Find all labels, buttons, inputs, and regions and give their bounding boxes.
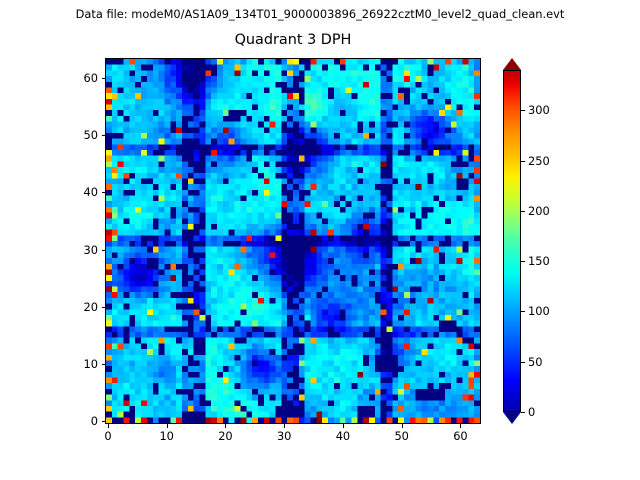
colorbar[interactable] xyxy=(503,58,521,424)
x-ticklabel-40: 40 xyxy=(323,429,363,443)
y-tick-30 xyxy=(102,250,106,251)
y-ticklabel-10: 10 xyxy=(58,357,98,371)
x-ticklabel-60: 60 xyxy=(440,429,480,443)
colorbar-tick-0 xyxy=(521,412,525,413)
colorbar-ticklabel-250: 250 xyxy=(528,154,550,168)
x-ticklabel-20: 20 xyxy=(205,429,245,443)
x-tick-0 xyxy=(108,424,109,428)
colorbar-gradient xyxy=(503,70,521,412)
x-ticklabel-50: 50 xyxy=(382,429,422,443)
y-tick-50 xyxy=(102,135,106,136)
colorbar-extend-max-arrow xyxy=(503,58,521,70)
y-tick-40 xyxy=(102,192,106,193)
y-ticklabel-0: 0 xyxy=(58,414,98,428)
x-tick-20 xyxy=(225,424,226,428)
colorbar-tick-200 xyxy=(521,211,525,212)
y-tick-20 xyxy=(102,307,106,308)
x-tick-60 xyxy=(460,424,461,428)
colorbar-extend-min-arrow xyxy=(503,412,521,424)
colorbar-ticklabel-50: 50 xyxy=(528,355,543,369)
heatmap-axes[interactable] xyxy=(105,58,481,424)
colorbar-ticklabel-0: 0 xyxy=(528,405,535,419)
y-ticklabel-30: 30 xyxy=(58,243,98,257)
x-ticklabel-0: 0 xyxy=(88,429,128,443)
colorbar-tick-50 xyxy=(521,362,525,363)
y-tick-10 xyxy=(102,364,106,365)
y-ticklabel-40: 40 xyxy=(58,185,98,199)
y-tick-60 xyxy=(102,78,106,79)
colorbar-tick-100 xyxy=(521,311,525,312)
figure-canvas: Data file: modeM0/AS1A09_134T01_90000038… xyxy=(0,0,640,480)
y-tick-0 xyxy=(102,421,106,422)
colorbar-tick-300 xyxy=(521,110,525,111)
y-ticklabel-50: 50 xyxy=(58,128,98,142)
colorbar-ticklabel-200: 200 xyxy=(528,204,550,218)
colorbar-tick-250 xyxy=(521,161,525,162)
heatmap-image xyxy=(106,59,480,423)
x-tick-10 xyxy=(167,424,168,428)
colorbar-ticklabel-100: 100 xyxy=(528,304,550,318)
x-ticklabel-10: 10 xyxy=(147,429,187,443)
y-ticklabel-20: 20 xyxy=(58,300,98,314)
figure-suptitle: Data file: modeM0/AS1A09_134T01_90000038… xyxy=(0,7,640,21)
colorbar-ticklabel-300: 300 xyxy=(528,103,550,117)
colorbar-ticklabel-150: 150 xyxy=(528,254,550,268)
x-tick-50 xyxy=(402,424,403,428)
y-ticklabel-60: 60 xyxy=(58,71,98,85)
x-tick-30 xyxy=(284,424,285,428)
colorbar-tick-150 xyxy=(521,261,525,262)
x-ticklabel-30: 30 xyxy=(264,429,304,443)
axes-title: Quadrant 3 DPH xyxy=(105,31,481,49)
x-tick-40 xyxy=(343,424,344,428)
